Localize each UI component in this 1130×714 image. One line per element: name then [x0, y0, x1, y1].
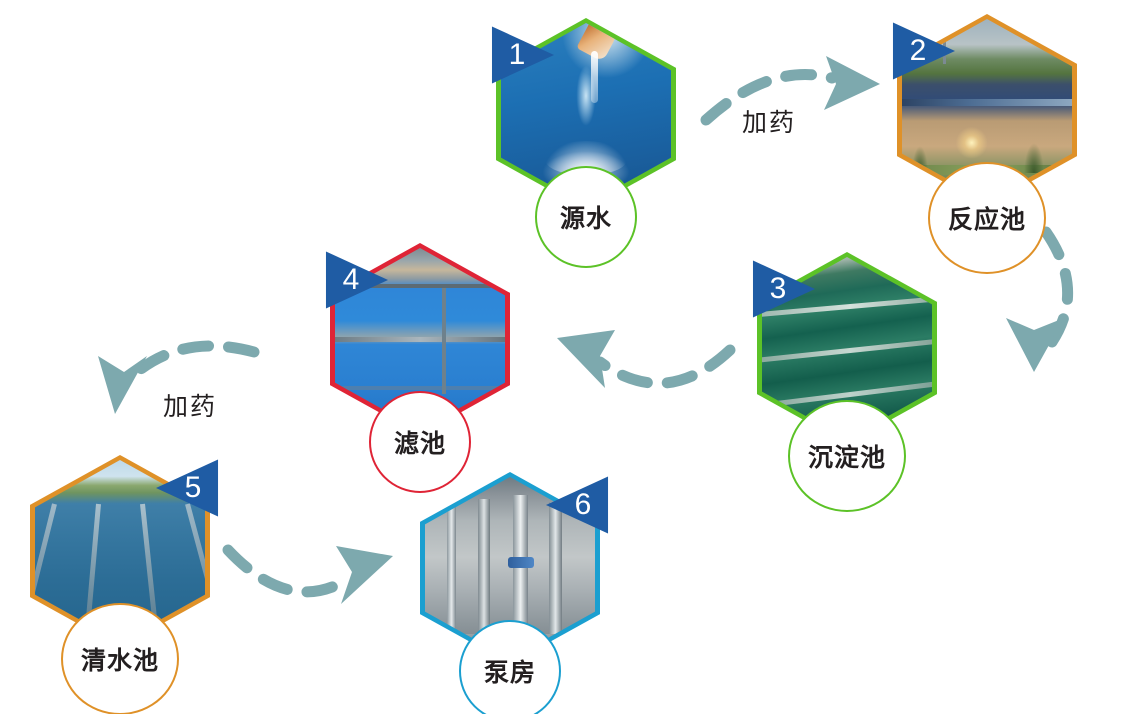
step-6-number-badge: 6: [544, 474, 610, 536]
step-1-label: 源水: [560, 199, 612, 235]
scraper-bridge-2: [762, 338, 932, 363]
step-2-number-badge: 2: [891, 20, 957, 82]
process-step-3[interactable]: 3 沉淀池: [757, 252, 937, 512]
step-1-number: 1: [490, 24, 556, 86]
process-step-5[interactable]: 5 清水池: [30, 455, 210, 714]
valve-shape: [508, 557, 534, 568]
step-5-label: 清水池: [81, 641, 159, 677]
step-6-label: 泵房: [484, 653, 536, 689]
step-5-number: 5: [154, 457, 220, 519]
step-6-number: 6: [544, 474, 610, 536]
water-stream-shape: [591, 51, 598, 103]
water-treatment-flow-diagram: 加药 加药 1: [0, 0, 1130, 714]
step-1-number-badge: 1: [490, 24, 556, 86]
pump-column-2: [478, 499, 490, 634]
channel-divider-1: [35, 503, 57, 638]
step-4-label-circle[interactable]: 滤池: [369, 391, 471, 493]
step-3-label-circle[interactable]: 沉淀池: [788, 400, 906, 512]
step-4-number: 4: [324, 249, 390, 311]
flow-label-dosing-2: 加药: [163, 387, 217, 423]
process-step-2[interactable]: 2 反应池: [897, 14, 1077, 274]
step-6-label-circle[interactable]: 泵房: [459, 620, 561, 714]
channel-divider-4: [185, 503, 205, 638]
step-5-label-circle[interactable]: 清水池: [61, 603, 179, 714]
step-5-number-badge: 5: [154, 457, 220, 519]
tree-shape-left: [912, 146, 928, 172]
step-3-label: 沉淀池: [808, 438, 886, 474]
process-step-6[interactable]: 6 泵房: [420, 472, 600, 714]
step-2-label: 反应池: [948, 200, 1026, 236]
filter-rail-bottom: [335, 386, 505, 390]
flow-label-dosing-1: 加药: [742, 103, 796, 139]
process-step-4[interactable]: 4 滤池: [330, 243, 510, 503]
step-3-number: 3: [751, 258, 817, 320]
basin-rail-shape: [902, 99, 1072, 106]
step-2-label-circle[interactable]: 反应池: [928, 162, 1046, 274]
process-step-1[interactable]: 1 源水: [496, 18, 676, 278]
step-3-number-badge: 3: [751, 258, 817, 320]
pump-column-1: [447, 506, 456, 633]
step-4-label: 滤池: [394, 424, 446, 460]
step-2-number: 2: [891, 20, 957, 82]
filter-rail-mid: [335, 337, 505, 342]
step-1-label-circle[interactable]: 源水: [535, 166, 637, 268]
tree-shape-right: [1024, 143, 1044, 173]
flow-arrow-5-to-6: [228, 546, 393, 604]
flow-arrow-3-to-4: [557, 330, 730, 388]
filter-column-shape: [442, 288, 446, 394]
step-4-number-badge: 4: [324, 249, 390, 311]
